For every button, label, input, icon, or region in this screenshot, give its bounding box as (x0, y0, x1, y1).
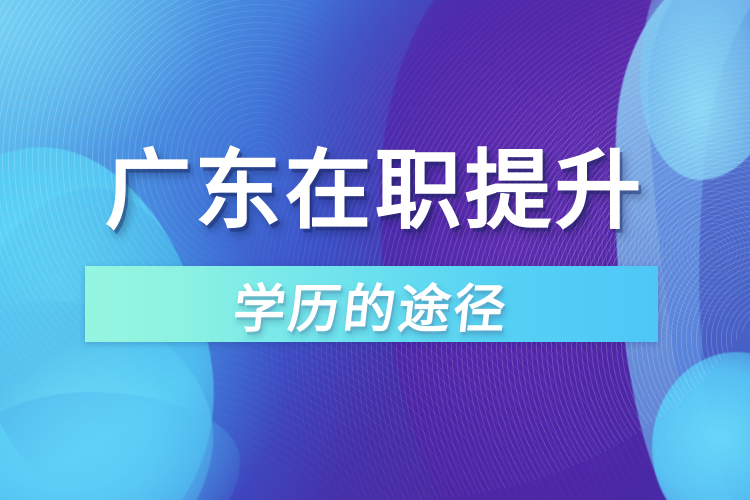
promo-poster: 广东在职提升 学历的途径 (0, 0, 750, 500)
poster-title: 广东在职提升 (0, 148, 750, 234)
poster-content: 广东在职提升 学历的途径 (0, 0, 750, 500)
poster-subtitle: 学历的途径 (81, 266, 662, 342)
